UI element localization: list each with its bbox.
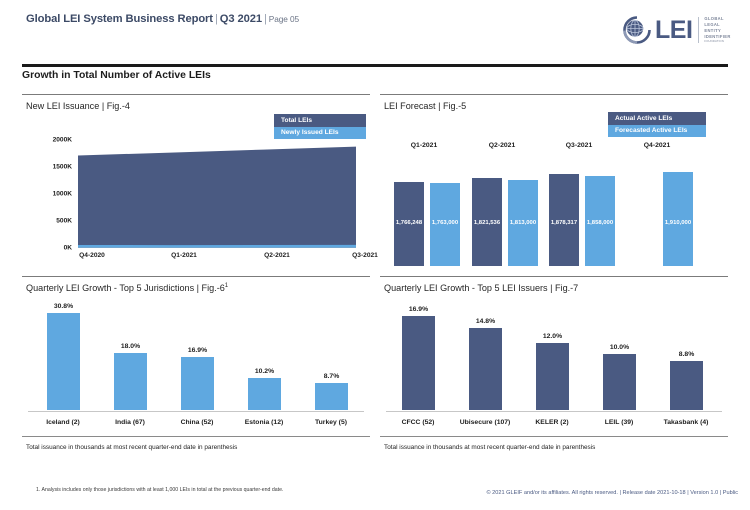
fig4-ytick-1000: 1000K — [53, 191, 72, 198]
fig6-value-iceland: 30.8% — [35, 303, 92, 310]
fig7-bar-leil: 10.0% — [603, 354, 636, 410]
panel-top-jurisdictions: Quarterly LEI Growth - Top 5 Jurisdictio… — [22, 276, 370, 462]
fig5-value-forecast-q3: 1,858,000 — [585, 220, 615, 226]
fig7-value-ubisecure: 14.8% — [457, 318, 514, 325]
fig5-group-label-q4: Q4-2021 — [644, 142, 670, 149]
fig5-group-label-q3: Q3-2021 — [566, 142, 592, 149]
fig6-bar-china: 16.9% — [181, 357, 214, 410]
fig4-series-newly-issued — [78, 245, 356, 248]
fig4-ytick-0: 0K — [64, 245, 72, 252]
panel-title-fig7: Quarterly LEI Growth - Top 5 LEI Issuers… — [384, 283, 578, 293]
fig5-value-forecast-q4: 1,910,000 — [663, 220, 693, 226]
fig5-bar-forecast-q2: 1,813,000 — [508, 180, 538, 266]
fig4-series-total-leis — [78, 147, 356, 248]
fig5-bar-forecast-q1: 1,763,000 — [430, 183, 460, 266]
fig5-group-label-q1: Q1-2021 — [411, 142, 437, 149]
panel-rule — [22, 94, 370, 95]
panel-title-fig5: LEI Forecast | Fig.-5 — [384, 101, 466, 111]
page-footnote: 1. Analysis includes only those jurisdic… — [36, 487, 283, 493]
fig5-bar-actual-q2: 1,821,536 — [472, 178, 502, 266]
panel-title-fig6: Quarterly LEI Growth - Top 5 Jurisdictio… — [26, 283, 228, 293]
fig7-bar-takasbank: 8.8% — [670, 361, 703, 410]
fig6-category-iceland: Iceland (2) — [46, 419, 80, 426]
fig6-bar-india: 18.0% — [114, 353, 147, 410]
fig7-note: Total issuance in thousands at most rece… — [384, 444, 595, 451]
fig7-bar-ubisecure: 14.8% — [469, 328, 502, 410]
fig7-bar-keler: 12.0% — [536, 343, 569, 410]
fig7-category-keler: KELER (2) — [535, 419, 568, 426]
fig6-value-turkey: 8.7% — [303, 373, 360, 380]
fig6-bar-iceland: 30.8% — [47, 313, 80, 410]
fig5-group-label-q2: Q2-2021 — [489, 142, 515, 149]
fig6-category-china: China (52) — [181, 419, 214, 426]
fig5-bar-forecast-q3: 1,858,000 — [585, 176, 615, 266]
fig4-xtick-q3-2021: Q3-2021 — [352, 252, 378, 259]
fig6-bar-estonia: 10.2% — [248, 378, 281, 410]
fig6-category-estonia: Estonia (12) — [245, 419, 284, 426]
fig4-ytick-500: 500K — [56, 218, 72, 225]
fig4-x-axis: Q4-2020 Q1-2021 Q2-2021 Q3-2021 — [70, 252, 366, 264]
globe-icon — [620, 13, 654, 47]
fig5-bar-actual-q3: 1,878,317 — [549, 174, 579, 266]
copyright-notice: © 2021 GLEIF and/or its affiliates. All … — [486, 490, 738, 496]
fig6-note-rule — [22, 436, 370, 437]
fig4-ytick-2000: 2000K — [53, 137, 72, 144]
fig6-note: Total issuance in thousands at most rece… — [26, 444, 237, 451]
chart-fig6: 30.8% Iceland (2) 18.0% India (67) 16.9%… — [22, 302, 370, 436]
panel-rule — [380, 94, 728, 95]
panel-lei-forecast: LEI Forecast | Fig.-5 Actual Active LEIs… — [380, 94, 728, 272]
report-name: Global LEI System Business Report — [26, 13, 213, 25]
title-separator-1: | — [213, 13, 220, 25]
fig7-note-rule — [380, 436, 728, 437]
panel-top-issuers: Quarterly LEI Growth - Top 5 LEI Issuers… — [380, 276, 728, 462]
fig4-xtick-q4-2020: Q4-2020 — [79, 252, 105, 259]
fig6-category-india: India (67) — [115, 419, 145, 426]
fig7-bar-cfcc: 16.9% — [402, 316, 435, 410]
page-header: Global LEI System Business Report|Q3 202… — [0, 0, 750, 56]
section-heading: Growth in Total Number of Active LEIs — [22, 70, 211, 81]
chart-fig5: Q1-2021 Q2-2021 Q3-2021 Q4-2021 1,766,24… — [380, 124, 728, 272]
fig7-baseline — [386, 411, 722, 412]
logo-divider — [698, 17, 699, 43]
fig6-category-turkey: Turkey (5) — [315, 419, 347, 426]
fig6-bar-turkey: 8.7% — [315, 383, 348, 410]
fig6-value-estonia: 10.2% — [236, 368, 293, 375]
fig7-category-takasbank: Takasbank (4) — [664, 419, 709, 426]
page-title: Global LEI System Business Report|Q3 202… — [26, 13, 299, 25]
panel-rule — [22, 276, 370, 277]
page-number: Page 05 — [269, 14, 299, 24]
chart-fig7: 16.9% CFCC (52) 14.8% Ubisecure (107) 12… — [380, 302, 728, 436]
fig6-value-china: 16.9% — [169, 347, 226, 354]
fig5-value-actual-q2: 1,821,536 — [472, 220, 502, 226]
fig5-value-forecast-q2: 1,813,000 — [508, 220, 538, 226]
fig7-category-leil: LEIL (39) — [605, 419, 634, 426]
fig6-baseline — [28, 411, 364, 412]
fig4-xtick-q2-2021: Q2-2021 — [264, 252, 290, 259]
fig6-value-india: 18.0% — [102, 343, 159, 350]
fig7-value-cfcc: 16.9% — [390, 306, 447, 313]
logo-sub-line-5: FOUNDATION — [704, 40, 730, 44]
logo-wordmark: LEI — [655, 18, 692, 43]
fig7-category-ubisecure: Ubisecure (107) — [460, 419, 511, 426]
chart-fig4: 0K 500K 1000K 1500K 2000K Q4-2020 Q1-202… — [22, 122, 370, 272]
fig5-value-forecast-q1: 1,763,000 — [430, 220, 460, 226]
fig7-value-keler: 12.0% — [524, 333, 581, 340]
panel-rule — [380, 276, 728, 277]
fig5-bar-forecast-q4: 1,910,000 — [663, 172, 693, 266]
fig7-value-leil: 10.0% — [591, 344, 648, 351]
panel-title-fig6-footnote-marker: 1 — [225, 283, 228, 289]
fig4-xtick-q1-2021: Q1-2021 — [171, 252, 197, 259]
report-quarter: Q3 2021 — [220, 13, 262, 25]
title-separator-2: | — [262, 13, 269, 25]
fig5-value-actual-q3: 1,878,317 — [549, 220, 579, 226]
panel-new-lei-issuance: New LEI Issuance | Fig.-4 Total LEIs New… — [22, 94, 370, 272]
fig4-y-axis: 0K 500K 1000K 1500K 2000K — [30, 140, 72, 248]
fig4-plot-area — [78, 140, 356, 248]
fig5-value-actual-q1: 1,766,248 — [394, 220, 424, 226]
legend-item-actual-active-leis: Actual Active LEIs — [608, 112, 706, 125]
logo-subtitle: GLOBAL LEGAL ENTITY IDENTIFIER FOUNDATIO… — [704, 16, 730, 44]
section-top-rule — [22, 64, 728, 67]
fig4-ytick-1500: 1500K — [53, 164, 72, 171]
panel-title-fig4: New LEI Issuance | Fig.-4 — [26, 101, 130, 111]
report-page: Global LEI System Business Report|Q3 202… — [0, 0, 750, 510]
fig7-value-takasbank: 8.8% — [658, 351, 715, 358]
fig7-category-cfcc: CFCC (52) — [402, 419, 435, 426]
fig5-bar-actual-q1: 1,766,248 — [394, 182, 424, 266]
panel-title-fig6-text: Quarterly LEI Growth - Top 5 Jurisdictio… — [26, 283, 225, 293]
gleif-logo: LEI GLOBAL LEGAL ENTITY IDENTIFIER FOUND… — [620, 12, 738, 48]
